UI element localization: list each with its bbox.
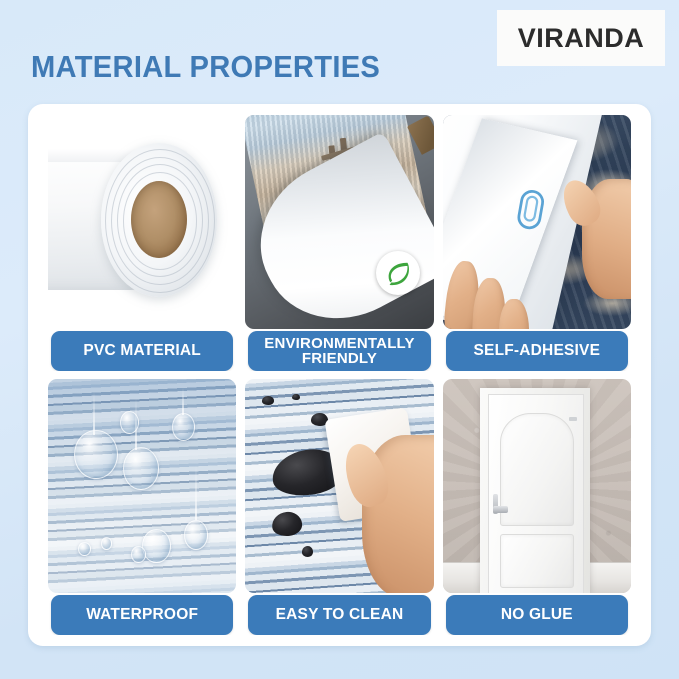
no-glue-image xyxy=(443,379,631,593)
door-panel-lower xyxy=(500,534,573,588)
dirt-stain xyxy=(302,546,313,557)
water-trail xyxy=(195,465,197,521)
pvc-roll-body xyxy=(101,143,218,297)
water-trail xyxy=(135,398,137,449)
water-droplet xyxy=(101,537,112,550)
dirt-stain xyxy=(292,394,300,400)
water-droplet xyxy=(142,529,170,563)
water-droplet xyxy=(74,430,117,479)
brand-logo-text: VIRANDA xyxy=(518,23,645,54)
eco-badge xyxy=(376,251,420,295)
features-card: PVC MATERIAL xyxy=(28,104,651,646)
feature-caption-waterproof: WATERPROOF xyxy=(51,595,233,635)
door-frame xyxy=(480,388,589,593)
water-droplet xyxy=(131,546,146,563)
feature-tile-no-glue[interactable]: NO GLUE xyxy=(443,379,631,635)
dirt-stain xyxy=(271,510,303,537)
leaf-icon xyxy=(383,258,413,288)
waterproof-image xyxy=(48,379,236,593)
water-droplet xyxy=(172,413,195,441)
feature-tile-easy-to-clean[interactable]: EASY TO CLEAN xyxy=(245,379,433,635)
feature-tile-waterproof[interactable]: WATERPROOF xyxy=(48,379,236,635)
feature-tile-self-adhesive[interactable]: SELF-ADHESIVE xyxy=(443,115,631,371)
self-adhesive-image xyxy=(443,115,631,329)
door-panel-upper xyxy=(500,413,573,527)
door-hinge xyxy=(569,417,577,421)
feature-caption-self-adhesive: SELF-ADHESIVE xyxy=(446,331,628,371)
dirt-stain xyxy=(262,396,273,405)
door-handle xyxy=(493,506,508,512)
paperclip-icon xyxy=(511,185,556,235)
easy-to-clean-image xyxy=(245,379,433,593)
pvc-roll-core xyxy=(131,181,187,258)
eco-friendly-image xyxy=(245,115,433,329)
feature-caption-pvc-material: PVC MATERIAL xyxy=(51,331,233,371)
infographic-page: VIRANDA MATERIAL PROPERTIES PVC MAT xyxy=(0,0,679,679)
feature-tile-environmentally-friendly[interactable]: ENVIRONMENTALLY FRIENDLY xyxy=(245,115,433,371)
features-grid: PVC MATERIAL xyxy=(48,115,631,635)
brand-logo: VIRANDA xyxy=(497,10,665,66)
door-slab xyxy=(488,394,584,593)
pvc-roll-image xyxy=(48,115,236,329)
water-trail xyxy=(182,388,184,416)
feature-caption-easy-to-clean: EASY TO CLEAN xyxy=(248,595,430,635)
feature-caption-no-glue: NO GLUE xyxy=(446,595,628,635)
water-trail xyxy=(93,392,95,435)
page-title: MATERIAL PROPERTIES xyxy=(31,49,380,85)
feature-caption-environmentally-friendly: ENVIRONMENTALLY FRIENDLY xyxy=(248,331,430,371)
water-droplet xyxy=(184,520,209,550)
feature-tile-pvc-material[interactable]: PVC MATERIAL xyxy=(48,115,236,371)
